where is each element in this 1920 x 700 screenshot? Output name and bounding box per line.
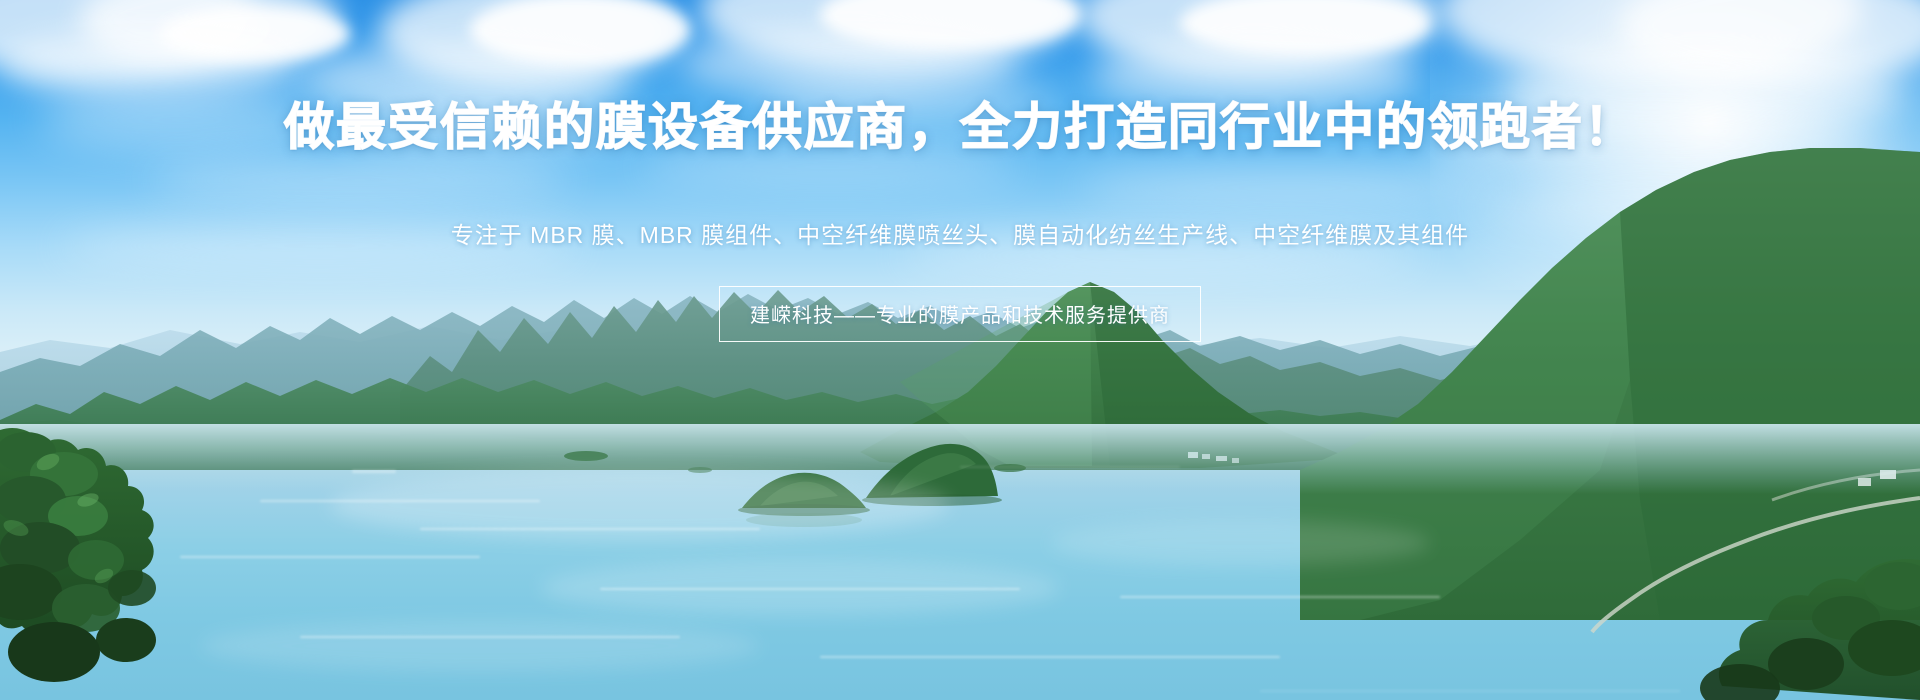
hero-banner: 做最受信赖的膜设备供应商，全力打造同行业中的领跑者！ 专注于 MBR 膜、MBR… [0,0,1920,700]
banner-subtitle: 专注于 MBR 膜、MBR 膜组件、中空纤维膜喷丝头、膜自动化纺丝生产线、中空纤… [0,216,1920,250]
banner-copy: 做最受信赖的膜设备供应商，全力打造同行业中的领跑者！ 专注于 MBR 膜、MBR… [0,0,1920,700]
banner-tagline-wrapper: 建嵘科技——专业的膜产品和技术服务提供商 [0,286,1920,342]
banner-tagline-box: 建嵘科技——专业的膜产品和技术服务提供商 [719,286,1201,342]
banner-headline: 做最受信赖的膜设备供应商，全力打造同行业中的领跑者！ [0,98,1920,157]
